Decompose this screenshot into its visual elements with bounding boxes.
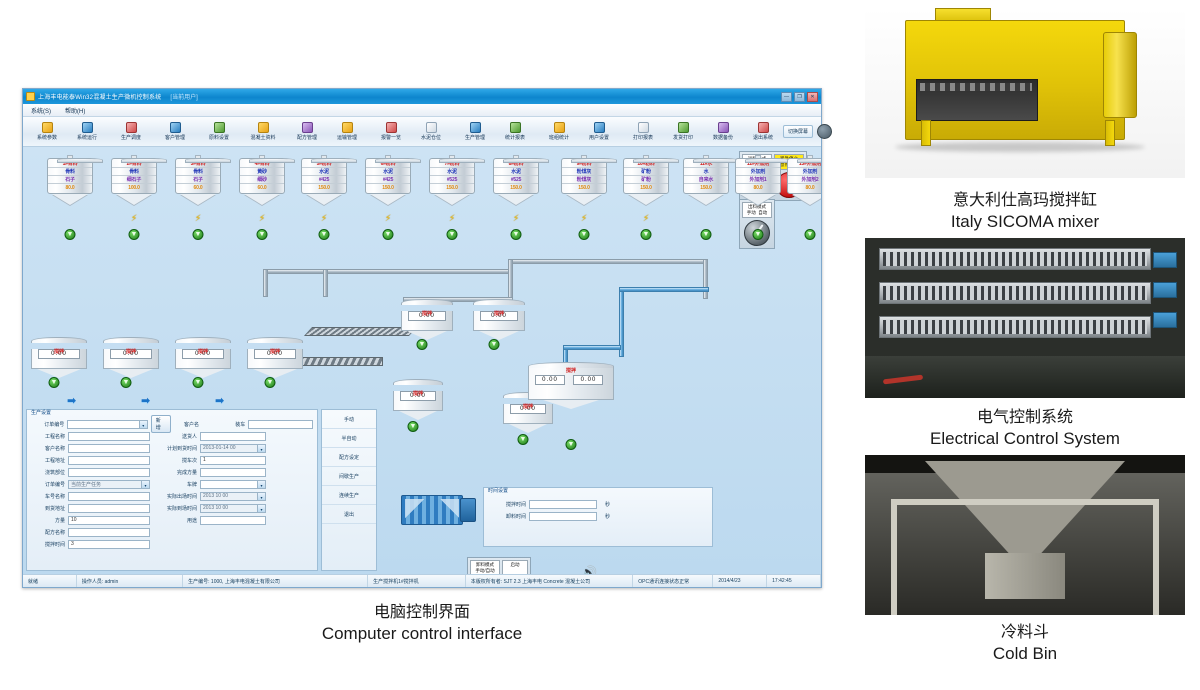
silo-body: 1#骨料骨料石子80.0 xyxy=(47,158,93,194)
hopper-top xyxy=(401,299,453,305)
silo-body: 9#粉料粉煤灰粉煤灰150.0 xyxy=(561,158,607,194)
hopper-body: 搅拌0.00 xyxy=(401,311,453,331)
form-label-left: 工程名称 xyxy=(31,433,65,440)
window-controls: — ❐ ✕ xyxy=(781,92,818,102)
caption-zh: 电脑控制界面 xyxy=(22,598,822,622)
toolbar-button-label: 混凝土资料 xyxy=(250,134,275,141)
switch-screen-button[interactable]: 切换屏幕 xyxy=(783,125,813,138)
hopper-mix-label: 搅拌 xyxy=(198,348,208,355)
toolbar-button-5[interactable]: 原料设置 xyxy=(199,122,239,141)
hopper-top xyxy=(473,299,525,305)
powder-gate-icon[interactable]: ▼ xyxy=(417,339,428,350)
form-label-left: 订单编号 xyxy=(31,481,65,488)
toolbar-button-label: 系统运行 xyxy=(77,134,97,141)
silo-gate-icon[interactable]: ▼ xyxy=(753,229,764,240)
chevron-down-icon[interactable]: ▾ xyxy=(257,505,265,512)
form-label-right: 完成方量 xyxy=(157,469,197,476)
control-rail xyxy=(879,248,1151,270)
silo-cone xyxy=(628,194,664,205)
silo-10[interactable]: 10#粉料矿粉矿粉150.0⚡▼ xyxy=(623,155,669,205)
caption-sicoma: 意大利仕高玛搅拌缸 Italy SICOMA mixer xyxy=(865,186,1185,232)
silo-band-value: 150.0 xyxy=(624,184,668,192)
silo-cone xyxy=(740,194,776,205)
mixer-body: 搅拌 0.00 0.00 xyxy=(528,368,614,400)
mode-list-item-2[interactable]: 半自动 xyxy=(322,429,376,448)
form-label-left: 客户名称 xyxy=(31,445,65,452)
silo-icon xyxy=(426,122,437,133)
form-input-right[interactable] xyxy=(200,468,266,477)
silo-band-value: 150.0 xyxy=(684,184,728,192)
form-label-right: 实际出场时间 xyxy=(157,493,197,500)
mixer-value-right: 0.00 xyxy=(573,375,603,385)
toolbar-button-13[interactable]: 班组统计 xyxy=(539,122,579,141)
toolbar-button-12[interactable]: 统计报表 xyxy=(495,122,535,141)
powder-gate-icon[interactable]: ▼ xyxy=(489,339,500,350)
aggregate-weigh-hopper-2[interactable]: 搅拌0.00 xyxy=(103,337,159,378)
mode-list-item-6[interactable]: 退出 xyxy=(322,505,376,524)
hopper-body: 搅拌0.00 xyxy=(31,349,87,369)
toolbar-button-11[interactable]: 生产管理 xyxy=(455,122,495,141)
hopper-funnel xyxy=(181,369,225,378)
toolbar-button-8[interactable]: 运输管理 xyxy=(327,122,367,141)
silo-gate-icon[interactable]: ▼ xyxy=(383,229,394,240)
silo-body: 2#骨料骨料细石子100.0 xyxy=(111,158,157,194)
chevron-down-icon[interactable]: ▾ xyxy=(141,481,149,488)
hopper-body: 搅拌0.00 xyxy=(473,311,525,331)
toolbar-button-10[interactable]: 水泥仓位 xyxy=(411,122,451,141)
app-icon xyxy=(26,92,35,101)
pipe-top-main xyxy=(263,269,513,274)
form-input-right[interactable]: 2013 10 00▾ xyxy=(200,492,266,501)
silo-9[interactable]: 9#粉料粉煤灰粉煤灰150.0⚡▼ xyxy=(561,155,607,205)
silo-cone xyxy=(566,194,602,205)
silo-gate-icon[interactable]: ▼ xyxy=(511,229,522,240)
silo-4[interactable]: 4#骨料黄砂细砂60.0⚡▼ xyxy=(239,155,285,205)
mode-list-item-1[interactable]: 手动 xyxy=(322,410,376,429)
mode-list: 手动半自动配方设定间歇生产连续生产退出 xyxy=(321,409,377,571)
silo-cap xyxy=(633,158,679,163)
silo-band-grade: 外加剂2 xyxy=(788,176,821,184)
silo-gate-icon[interactable]: ▼ xyxy=(319,229,330,240)
toolbar-button-label: 生产管理 xyxy=(465,134,485,141)
silo-band-grade: 粉煤灰 xyxy=(562,176,606,184)
hopper-mix-label: 搅拌 xyxy=(422,310,432,317)
menu-bar: 系统(S) 帮助(H) xyxy=(23,104,821,117)
form-row-5: 浇筑部位完成方量 xyxy=(31,466,313,478)
toolbar-button-18[interactable]: 退出系统 xyxy=(743,122,783,141)
toolbar-right-group: 切换屏幕 xyxy=(783,124,834,139)
gear-icon xyxy=(42,122,53,133)
silo-3[interactable]: 3#骨料骨料石子60.0⚡▼ xyxy=(175,155,221,205)
silo-band-grade: 细砂 xyxy=(240,176,284,184)
status-cell-7: 2014/4/23 xyxy=(713,575,767,587)
silo-cone xyxy=(498,194,534,205)
team-icon xyxy=(554,122,565,133)
silo-band-grade: #525 xyxy=(430,176,474,184)
hopper-top xyxy=(175,337,231,343)
form-input-left[interactable]: ▾ xyxy=(67,420,147,429)
form-row-3: 客户名称计划到货时间2013-01-14 00▾ xyxy=(31,442,313,454)
silo-body: 12#外加剂外加剂外加剂180.0 xyxy=(735,158,781,194)
form-input-left[interactable]: 当前生产任务▾ xyxy=(68,480,150,489)
toolbar-button-label: 统计报表 xyxy=(505,134,525,141)
flow-arrow-icon: ➡ xyxy=(215,394,224,407)
silo-band-grade: 外加剂1 xyxy=(736,176,780,184)
status-cell-2: 操作人员: admin xyxy=(77,575,183,587)
hopper-mix-label: 搅拌 xyxy=(54,348,64,355)
silo-body: 11#水水自来水150.0 xyxy=(683,158,729,194)
aggregate-weigh-hopper-1[interactable]: 搅拌0.00 xyxy=(31,337,87,378)
silo-band-material: 外加剂 xyxy=(736,168,780,176)
status-cell-1: 就绪 xyxy=(23,575,77,587)
silo-6[interactable]: 6#粉料水泥#425150.0⚡▼ xyxy=(365,155,411,205)
form-input-left[interactable]: 10 xyxy=(68,516,150,525)
production-form-panel: 生产设置 订单编号▾新增客户名装车工程名称送货人客户名称计划到货时间2013-0… xyxy=(26,409,318,571)
maximize-button[interactable]: ❐ xyxy=(794,92,805,102)
chevron-down-icon[interactable]: ▾ xyxy=(257,493,265,500)
support-beam xyxy=(891,499,897,615)
silo-band-value: 150.0 xyxy=(494,184,538,192)
silo-band-value: 150.0 xyxy=(430,184,474,192)
hopper-funnel xyxy=(253,369,297,378)
caption-en: Electrical Control System xyxy=(865,429,1185,449)
silo-cap xyxy=(375,158,421,163)
silo-band-material: 水泥 xyxy=(430,168,474,176)
form-input-left[interactable]: 3 xyxy=(68,540,150,549)
silo-band-value: 80.0 xyxy=(48,184,92,192)
control-module xyxy=(1153,252,1177,268)
form-label-left: 订单编号 xyxy=(31,421,64,428)
silo-cone xyxy=(792,194,821,205)
toolbar-button-7[interactable]: 配方管理 xyxy=(287,122,327,141)
silo-cone xyxy=(52,194,88,205)
form-label-left: 到货地址 xyxy=(31,505,65,512)
toolbar-button-label: 配方管理 xyxy=(297,134,317,141)
toolbar-button-label: 报警一览 xyxy=(381,134,401,141)
silo-band-value: 150.0 xyxy=(562,184,606,192)
silo-cap xyxy=(185,158,231,163)
knob-panel-discharge: 出料模式 手动 自动 xyxy=(739,199,775,249)
toolbar-button-3[interactable]: 生产调度 xyxy=(111,122,151,141)
vibrator-icon: ⚡ xyxy=(581,213,587,224)
form-legend: 生产设置 xyxy=(31,409,51,416)
window-subtitle: [当前用户] xyxy=(170,92,197,101)
hopper-top xyxy=(393,379,443,385)
vibrator-icon: ⚡ xyxy=(385,213,391,224)
silo-1[interactable]: 1#骨料骨料石子80.0▼ xyxy=(47,155,93,205)
caption-en: Cold Bin xyxy=(865,644,1185,664)
silo-13[interactable]: 13#外加剂外加剂外加剂280.0▼ xyxy=(787,155,821,205)
form-label-right: 搅车次 xyxy=(157,457,197,464)
silo-cap xyxy=(503,158,549,163)
chevron-down-icon[interactable]: ▾ xyxy=(257,445,265,452)
silo-body: 6#粉料水泥#425150.0 xyxy=(365,158,411,194)
new-button[interactable]: 新增 xyxy=(151,415,171,433)
mixer-leg xyxy=(921,120,931,146)
silo-band-value: 100.0 xyxy=(112,184,156,192)
silo-gate-icon[interactable]: ▼ xyxy=(193,229,204,240)
mixer-value-left: 0.00 xyxy=(535,375,565,385)
caption-en: Italy SICOMA mixer xyxy=(865,212,1185,232)
silo-band-grade: #425 xyxy=(302,176,346,184)
ship-icon xyxy=(678,122,689,133)
form-row-10: 配方名称 xyxy=(31,526,313,538)
form-rows: 订单编号▾新增客户名装车工程名称送货人客户名称计划到货时间2013-01-14 … xyxy=(31,418,313,550)
toolbar-button-9[interactable]: 报警一览 xyxy=(371,122,411,141)
minimize-button[interactable]: — xyxy=(781,92,792,102)
status-cell-6: OPC通讯连接状态正常 xyxy=(633,575,713,587)
silo-body: 5#粉料水泥#425150.0 xyxy=(301,158,347,194)
form-label-right: 送货人 xyxy=(157,433,197,440)
hopper-top xyxy=(31,337,87,343)
support-beam-top xyxy=(891,499,1159,505)
silo-cap xyxy=(121,158,167,163)
chevron-down-icon[interactable]: ▾ xyxy=(139,421,147,428)
customer-icon xyxy=(170,122,181,133)
pipe-down-3 xyxy=(508,259,513,299)
caption-en: Computer control interface xyxy=(22,624,822,644)
silo-band-material: 骨料 xyxy=(112,168,156,176)
silo-cap xyxy=(797,158,821,163)
silo-cap xyxy=(57,158,103,163)
silo-band-grade: #425 xyxy=(366,176,410,184)
photo-sicoma-mixer xyxy=(865,8,1185,178)
form-label-right: 装车 xyxy=(206,421,245,428)
vibrator-icon: ⚡ xyxy=(449,213,455,224)
silo-gate-icon[interactable]: ▼ xyxy=(129,229,140,240)
silo-band-value: 80.0 xyxy=(736,184,780,192)
pipe-down-4 xyxy=(703,259,708,299)
main-mixer-1[interactable]: 搅拌 0.00 0.00 xyxy=(528,362,614,409)
pipe-water-h xyxy=(619,287,709,292)
silo-cone xyxy=(180,194,216,205)
silo-band-grade: 石子 xyxy=(48,176,92,184)
pipe-down-2 xyxy=(323,269,328,297)
concrete-icon xyxy=(258,122,269,133)
silo-gate-icon[interactable]: ▼ xyxy=(579,229,590,240)
toolbar-button-label: 水泥仓位 xyxy=(421,134,441,141)
exit-icon xyxy=(758,122,769,133)
support-beam xyxy=(1153,499,1159,615)
silo-band-material: 水 xyxy=(684,168,728,176)
toolbar-button-14[interactable]: 用户设置 xyxy=(579,122,619,141)
silo-7[interactable]: 7#粉料水泥#525150.0⚡▼ xyxy=(429,155,475,205)
status-cell-4: 生产搅拌机1#搅拌机 xyxy=(368,575,466,587)
toolbar-button-label: 客户管理 xyxy=(165,134,185,141)
mixer-funnel xyxy=(543,400,599,409)
silo-gate-icon[interactable]: ▼ xyxy=(447,229,458,240)
toolbar-button-label: 用户设置 xyxy=(589,134,609,141)
aggregate-gate-icon[interactable]: ▼ xyxy=(265,377,276,388)
silo-cap xyxy=(439,158,485,163)
status-cell-3: 生产编号: 1000, 上海丰电混凝土有限公司 xyxy=(183,575,368,587)
form-input-left[interactable] xyxy=(68,456,150,465)
chevron-down-icon[interactable]: ▾ xyxy=(257,481,265,488)
silo-body: 10#粉料矿粉矿粉150.0 xyxy=(623,158,669,194)
silo-cone xyxy=(244,194,280,205)
form-input-right[interactable] xyxy=(200,432,266,441)
mode-list-item-5[interactable]: 连续生产 xyxy=(322,486,376,505)
toolbar-button-label: 班组统计 xyxy=(549,134,569,141)
process-canvas: 运料模式 手动 自动 紧急停止 急停状态 出料模式 xyxy=(23,147,821,574)
aggregate-weigh-hopper-4[interactable]: 搅拌0.00 xyxy=(247,337,303,378)
scada-window: 上海丰电能泰Win32混凝土生产微机控制系统 [当前用户] — ❐ ✕ 系统(S… xyxy=(22,88,822,588)
mixer-cylinder xyxy=(1103,32,1137,118)
powder-weigh-hopper-1[interactable]: 搅拌0.00 xyxy=(401,299,453,340)
form-input-right[interactable] xyxy=(200,516,266,525)
silo-band-grade: #525 xyxy=(494,176,538,184)
caption-computer-control: 电脑控制界面 Computer control interface xyxy=(22,598,822,644)
control-rail xyxy=(879,316,1151,338)
form-label-right: 计划到货时间 xyxy=(157,445,197,452)
silo-12[interactable]: 12#外加剂外加剂外加剂180.0▼ xyxy=(735,155,781,205)
play-icon xyxy=(82,122,93,133)
toolbar-button-label: 系统参数 xyxy=(37,134,57,141)
toolbar-button-6[interactable]: 混凝土资料 xyxy=(243,122,283,141)
toolbar-button-label: 生产调度 xyxy=(121,134,141,141)
silo-8[interactable]: 8#粉料水泥#525150.0⚡▼ xyxy=(493,155,539,205)
silo-cone xyxy=(116,194,152,205)
toolbar-button-16[interactable]: 发货打印 xyxy=(663,122,703,141)
silo-5[interactable]: 5#粉料水泥#425150.0⚡▼ xyxy=(301,155,347,205)
form-input-left[interactable] xyxy=(68,504,150,513)
print-icon xyxy=(638,122,649,133)
silo-cap xyxy=(693,158,739,163)
silo-cap xyxy=(311,158,357,163)
hopper-body: 搅拌0.00 xyxy=(247,349,303,369)
toolbar-button-4[interactable]: 客户管理 xyxy=(155,122,195,141)
form-label-left: 浇筑部位 xyxy=(31,469,65,476)
hopper-mix-label: 搅拌 xyxy=(270,348,280,355)
photo-electrical-control xyxy=(865,238,1185,398)
toolbar-button-1[interactable]: 系统参数 xyxy=(27,122,67,141)
customer-label: 客户名 xyxy=(174,421,199,428)
silo-band-material: 水泥 xyxy=(302,168,346,176)
form-label-left: 方量 xyxy=(31,517,65,524)
form-input-right[interactable]: 1 xyxy=(200,456,266,465)
flow-arrow-icon: ➡ xyxy=(141,394,150,407)
silo-band-grade: 自来水 xyxy=(684,176,728,184)
form-label-right: 实际到场时间 xyxy=(157,505,197,512)
silo-gate-icon[interactable]: ▼ xyxy=(257,229,268,240)
form-label-left: 工程地址 xyxy=(31,457,65,464)
form-row-7: 车号名称实际出场时间2013 10 00▾ xyxy=(31,490,313,502)
flow-arrow-icon: ➡ xyxy=(67,394,76,407)
silo-band-material: 水泥 xyxy=(366,168,410,176)
hopper-body: 搅拌0.00 xyxy=(103,349,159,369)
control-module xyxy=(1153,282,1177,298)
form-row-2: 工程名称送货人 xyxy=(31,430,313,442)
powder-weigh-hopper-2[interactable]: 搅拌0.00 xyxy=(473,299,525,340)
mode-list-item-3[interactable]: 配方设定 xyxy=(322,448,376,467)
toolbar-button-2[interactable]: 系统运行 xyxy=(67,122,107,141)
silo-band-material: 外加剂 xyxy=(788,168,821,176)
silo-gate-icon[interactable]: ▼ xyxy=(701,229,712,240)
form-input-left[interactable] xyxy=(68,432,150,441)
material-icon xyxy=(214,122,225,133)
control-module xyxy=(1153,312,1177,328)
toolbar-button-label: 发货打印 xyxy=(673,134,693,141)
mixer-leg xyxy=(1105,120,1115,146)
silo-cone xyxy=(434,194,470,205)
pipe-down-1 xyxy=(263,269,268,297)
silo-band-value: 80.0 xyxy=(788,184,821,192)
silo-band-grade: 细石子 xyxy=(112,176,156,184)
silo-cap xyxy=(249,158,295,163)
form-input-right[interactable] xyxy=(248,420,313,429)
form-input-left[interactable] xyxy=(68,444,150,453)
alarm-icon xyxy=(386,122,397,133)
form-input-right[interactable]: 2013 10 00▾ xyxy=(200,504,266,513)
aggregate-weigh-hopper-3[interactable]: 搅拌0.00 xyxy=(175,337,231,378)
transport-icon xyxy=(342,122,353,133)
silo-gate-icon[interactable]: ▼ xyxy=(65,229,76,240)
vibrator-icon: ⚡ xyxy=(259,213,265,224)
form-input-left[interactable] xyxy=(68,468,150,477)
menu-item-help[interactable]: 帮助(H) xyxy=(65,106,85,115)
vibrator-icon: ⚡ xyxy=(513,213,519,224)
hopper-mix-label: 搅拌 xyxy=(126,348,136,355)
form-input-left[interactable] xyxy=(68,492,150,501)
toolbar-button-17[interactable]: 数据备份 xyxy=(703,122,743,141)
window-title: 上海丰电能泰Win32混凝土生产微机控制系统 xyxy=(38,92,161,101)
form-input-left[interactable] xyxy=(68,528,150,537)
aggregate-gate-icon[interactable]: ▼ xyxy=(193,377,204,388)
silo-gate-icon[interactable]: ▼ xyxy=(641,229,652,240)
silo-band-material: 骨料 xyxy=(176,168,220,176)
silo-2[interactable]: 2#骨料骨料细石子100.0⚡▼ xyxy=(111,155,157,205)
form-input-right[interactable]: ▾ xyxy=(200,480,266,489)
caption-zh: 意大利仕高玛搅拌缸 xyxy=(865,186,1185,210)
silo-body: 3#骨料骨料石子60.0 xyxy=(175,158,221,194)
menu-item-system[interactable]: 系统(S) xyxy=(31,106,51,115)
silo-gate-icon[interactable]: ▼ xyxy=(805,229,816,240)
silo-11[interactable]: 11#水水自来水150.0▼ xyxy=(683,155,729,205)
bin-hopper-chute xyxy=(985,553,1065,599)
mode-list-item-4[interactable]: 间歇生产 xyxy=(322,467,376,486)
toolbar: 系统参数系统运行生产调度客户管理原料设置混凝土资料配方管理运输管理报警一览水泥仓… xyxy=(23,117,821,147)
form-row-9: 方量10用途 xyxy=(31,514,313,526)
close-button[interactable]: ✕ xyxy=(807,92,818,102)
aggregate-gate-icon[interactable]: ▼ xyxy=(49,377,60,388)
form-input-right[interactable]: 2013-01-14 00▾ xyxy=(200,444,266,453)
silo-cone xyxy=(306,194,342,205)
vibrator-icon: ⚡ xyxy=(321,213,327,224)
form-label-left: 车号名称 xyxy=(31,493,65,500)
vibrator-icon: ⚡ xyxy=(131,213,137,224)
silo-body: 4#骨料黄砂细砂60.0 xyxy=(239,158,285,194)
power-icon[interactable] xyxy=(817,124,832,139)
photo-cold-bin xyxy=(865,455,1185,615)
pipe-water-branch xyxy=(563,345,621,350)
silo-band-material: 骨料 xyxy=(48,168,92,176)
toolbar-button-15[interactable]: 打印报表 xyxy=(623,122,663,141)
hopper-top xyxy=(247,337,303,343)
toolbar-button-label: 打印报表 xyxy=(633,134,653,141)
toolbar-button-label: 运输管理 xyxy=(337,134,357,141)
silo-cap xyxy=(571,158,617,163)
vibrator-icon: ⚡ xyxy=(195,213,201,224)
form-label-left: 搅拌时间 xyxy=(31,541,65,548)
recipe-icon xyxy=(302,122,313,133)
silo-band-grade: 矿粉 xyxy=(624,176,668,184)
silo-body: 13#外加剂外加剂外加剂280.0 xyxy=(787,158,821,194)
aggregate-gate-icon[interactable]: ▼ xyxy=(121,377,132,388)
silo-band-value: 60.0 xyxy=(240,184,284,192)
page-root: 上海丰电能泰Win32混凝土生产微机控制系统 [当前用户] — ❐ ✕ 系统(S… xyxy=(0,0,1200,690)
hopper-funnel xyxy=(407,331,447,340)
silo-cap xyxy=(745,158,791,163)
